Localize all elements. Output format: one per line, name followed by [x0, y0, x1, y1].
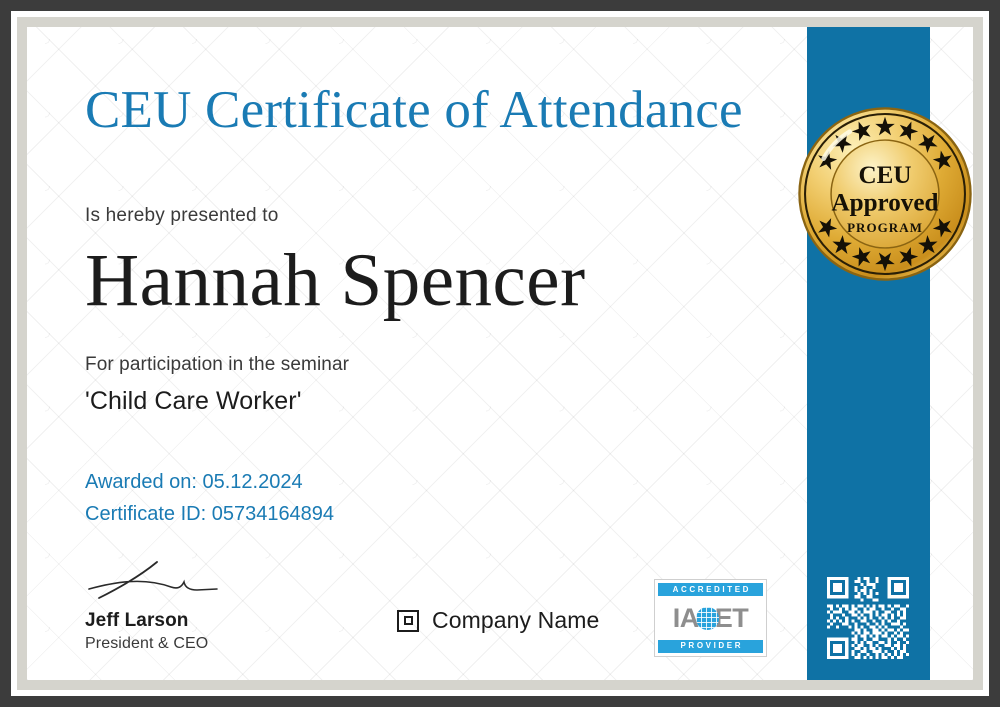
- iacet-brand-row: IA ET: [658, 596, 763, 640]
- iacet-brand-right: ET: [715, 605, 749, 632]
- signer-title: President & CEO: [85, 635, 345, 653]
- page-title: CEU Certificate of Attendance: [85, 83, 743, 139]
- presented-to-label: Is hereby presented to: [85, 205, 278, 227]
- iacet-badge-inner: ACCREDITED IA ET PROVIDER: [658, 583, 763, 653]
- recipient-name: Hannah Spencer: [85, 238, 586, 324]
- iacet-badge-icon: ACCREDITED IA ET PROVIDER: [654, 579, 767, 657]
- certificate-inner-border: CEU Certificate of Attendance Is hereby …: [17, 17, 983, 690]
- gold-seal-icon: CEU Approved PROGRAM: [792, 101, 973, 287]
- globe-icon: [696, 607, 719, 630]
- signature-icon: [85, 557, 225, 605]
- certificate-id-line: Certificate ID: 05734164894: [85, 499, 334, 531]
- iacet-provider-text: PROVIDER: [658, 642, 763, 650]
- awarded-on-line: Awarded on: 05.12.2024: [85, 467, 334, 499]
- signature-block: Jeff Larson President & CEO: [85, 557, 345, 653]
- certificate-metadata: Awarded on: 05.12.2024 Certificate ID: 0…: [85, 467, 334, 530]
- certificate-content: CEU Certificate of Attendance Is hereby …: [27, 27, 973, 680]
- iacet-accredited-text: ACCREDITED: [658, 586, 763, 594]
- company-name: Company Name: [432, 607, 599, 634]
- seminar-label: For participation in the seminar: [85, 354, 349, 376]
- seal-line-1: CEU: [858, 162, 911, 189]
- certificate-outer-frame: CEU Certificate of Attendance Is hereby …: [0, 0, 1000, 707]
- signer-name: Jeff Larson: [85, 610, 345, 632]
- seal-line-2: Approved: [832, 190, 939, 217]
- certificate-frame-gap: CEU Certificate of Attendance Is hereby …: [11, 11, 989, 696]
- seminar-name: 'Child Care Worker': [85, 387, 302, 416]
- certificate-paper: CEU Certificate of Attendance Is hereby …: [27, 27, 973, 680]
- company-block: Company Name: [397, 607, 599, 634]
- qr-code-icon: [824, 574, 912, 662]
- seal-line-3: PROGRAM: [847, 220, 923, 235]
- square-in-square-icon: [397, 610, 419, 632]
